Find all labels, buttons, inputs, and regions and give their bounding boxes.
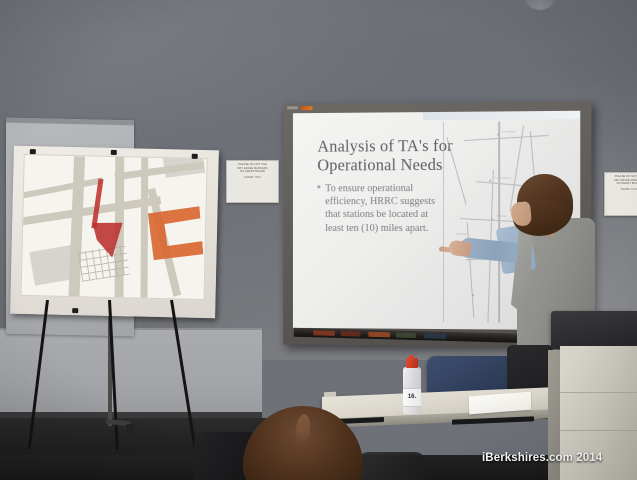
smart-board-status-led xyxy=(301,106,313,110)
foreground-shoulder xyxy=(355,452,425,480)
poster-board xyxy=(10,146,219,319)
poster-site-map xyxy=(21,154,208,300)
poster-clip xyxy=(72,308,78,313)
marker-pen[interactable] xyxy=(396,333,416,339)
sign-right-line-3: ON SMART BOARD xyxy=(606,182,637,186)
slide-bullet-item: To ensure operational efficiency, HRRC s… xyxy=(325,182,442,235)
poster-printed-sheet xyxy=(21,154,208,300)
poster-map-orange-area xyxy=(148,206,204,260)
slide-top-band xyxy=(423,111,580,120)
sign-no-dry-erase-right: PLEASE DO NOT USE DRY ERASE MARKERS ON S… xyxy=(604,172,637,216)
water-bottle-label-text: 16. xyxy=(403,389,421,406)
marker-pen[interactable] xyxy=(341,331,361,336)
water-bottle-nozzle xyxy=(409,355,414,360)
poster-clip xyxy=(192,154,198,159)
poster-map-red-route xyxy=(91,178,103,228)
marker-pen[interactable] xyxy=(368,332,390,338)
smart-board-logo xyxy=(287,106,298,109)
easel-foot-cap xyxy=(126,424,135,434)
sign-left-line-4: THANK YOU! xyxy=(228,176,277,180)
sign-right-line-4: THANK YOU! xyxy=(606,188,637,192)
slide-bullet-text: To ensure operational efficiency, HRRC s… xyxy=(325,183,435,234)
sign-left-line-3: ON SMART BOARD xyxy=(228,170,277,174)
poster-map-road xyxy=(21,177,104,200)
map-label: Greenfield xyxy=(502,129,515,133)
marker-pen[interactable] xyxy=(424,333,446,339)
sign-no-dry-erase-left: PLEASE DO NOT USE DRY ERASE MARKERS ON S… xyxy=(226,160,279,203)
map-crossline xyxy=(464,135,549,141)
marker-pen[interactable] xyxy=(313,330,335,336)
water-bottle: 16. xyxy=(403,358,421,414)
podium-counter-top xyxy=(551,311,637,349)
podium-panel-seam xyxy=(560,392,637,393)
poster-clip xyxy=(30,149,36,154)
slide-divider xyxy=(443,122,444,322)
photo-scene: PLEASE DO NOT USE DRY ERASE MARKERS ON S… xyxy=(0,0,637,480)
podium-panel-seam xyxy=(560,430,637,431)
poster-map-road xyxy=(140,154,148,300)
bullet-dot-icon xyxy=(317,185,319,187)
water-bottle-label: 16. xyxy=(403,388,421,407)
watermark: iBerkshires.com 2014 xyxy=(482,452,602,464)
poster-clip xyxy=(111,150,117,155)
